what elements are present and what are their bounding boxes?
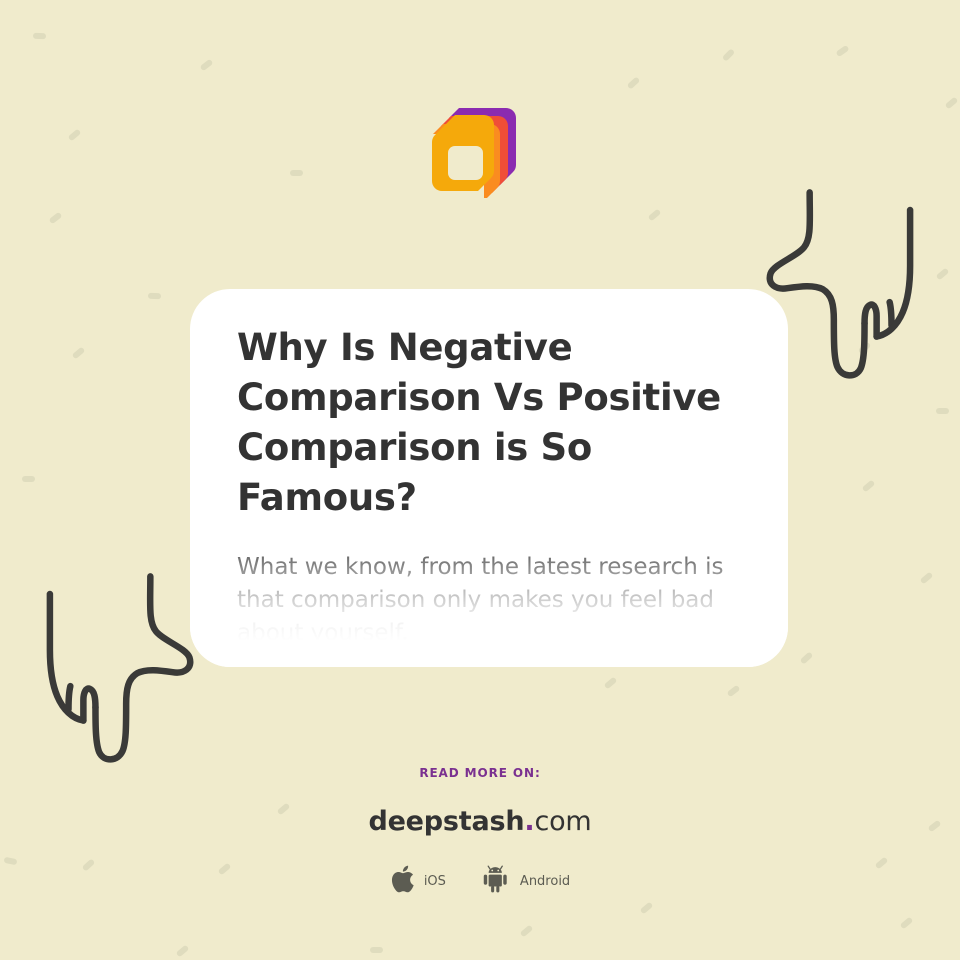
confetti-speck	[290, 170, 303, 176]
android-icon	[482, 864, 512, 898]
confetti-speck	[370, 947, 383, 953]
confetti-speck	[945, 97, 959, 110]
idea-card: Why Is Negative Comparison Vs Positive C…	[190, 289, 788, 667]
confetti-speck	[49, 212, 63, 225]
confetti-speck	[920, 572, 934, 585]
confetti-speck	[604, 677, 618, 690]
confetti-speck	[936, 268, 950, 281]
ios-label: iOS	[424, 874, 446, 889]
android-store-badge[interactable]: Android	[482, 864, 570, 898]
footer: READ MORE ON: deepstash.com iOS	[0, 766, 960, 898]
page-title: Why Is Negative Comparison Vs Positive C…	[237, 323, 736, 523]
store-badges: iOS	[0, 864, 960, 898]
confetti-speck	[68, 129, 82, 142]
card-paragraph: What we know, from the latest research i…	[237, 551, 736, 650]
poster-canvas: Why Is Negative Comparison Vs Positive C…	[0, 0, 960, 960]
confetti-speck	[835, 45, 849, 57]
read-more-label: READ MORE ON:	[0, 766, 960, 780]
confetti-speck	[33, 33, 46, 39]
confetti-speck	[648, 209, 662, 222]
apple-icon	[390, 864, 416, 898]
confetti-speck	[627, 76, 641, 89]
android-label: Android	[520, 874, 570, 889]
confetti-speck	[800, 651, 814, 664]
wordmark-tld: com	[534, 806, 591, 837]
confetti-speck	[862, 480, 876, 493]
confetti-speck	[722, 48, 735, 61]
pointing-hand-icon-left	[22, 562, 208, 774]
ios-store-badge[interactable]: iOS	[390, 864, 446, 898]
confetti-speck	[640, 902, 654, 915]
confetti-speck	[176, 945, 190, 958]
confetti-speck	[900, 917, 914, 930]
confetti-speck	[858, 341, 872, 354]
confetti-speck	[200, 59, 214, 72]
card-content: Why Is Negative Comparison Vs Positive C…	[190, 289, 788, 667]
confetti-speck	[936, 408, 949, 414]
confetti-speck	[727, 685, 741, 698]
wordmark-dot: .	[524, 806, 534, 837]
confetti-speck	[148, 293, 161, 299]
deepstash-logo	[428, 104, 520, 198]
deepstash-wordmark[interactable]: deepstash.com	[0, 806, 960, 837]
confetti-speck	[22, 476, 35, 482]
confetti-speck	[520, 925, 534, 938]
wordmark-name: deepstash	[368, 806, 524, 837]
confetti-speck	[72, 347, 86, 360]
